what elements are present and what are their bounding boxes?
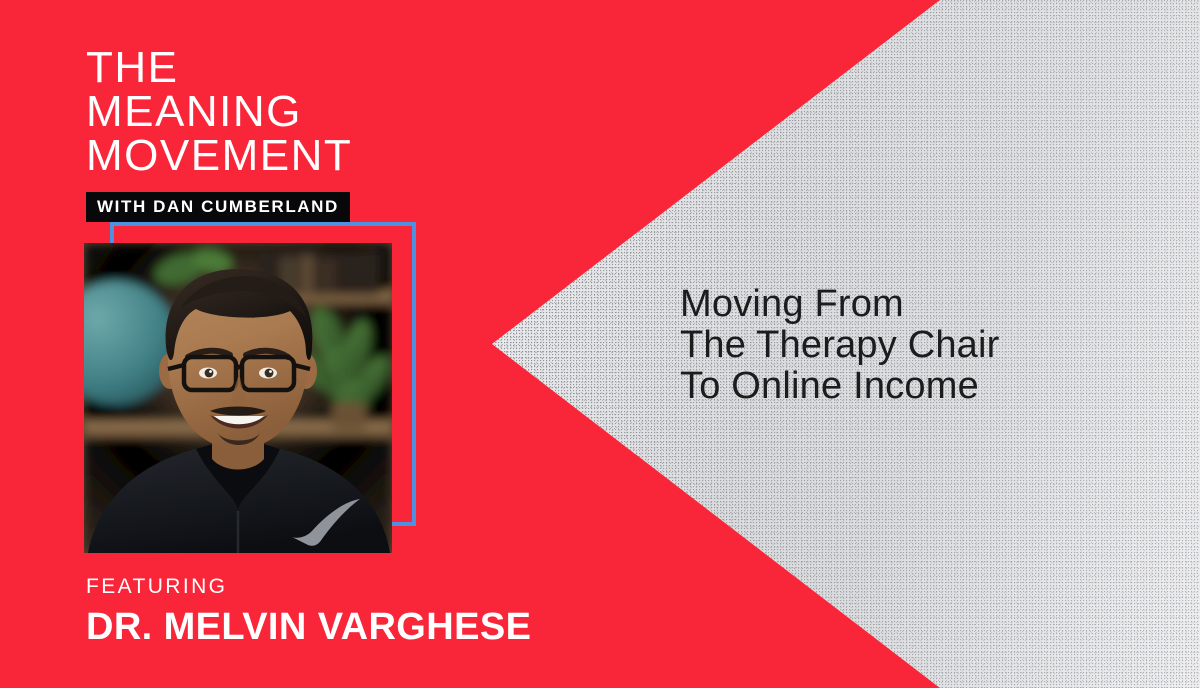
- episode-title-line-1: Moving From: [680, 284, 1150, 325]
- guest-portrait-illustration: [84, 243, 392, 553]
- show-title-line-2: MEANING: [86, 90, 506, 134]
- featuring-block: FEATURING DR. MELVIN VARGHESE: [86, 576, 706, 646]
- featuring-label: FEATURING: [86, 576, 706, 597]
- host-name-label: WITH DAN CUMBERLAND: [97, 198, 339, 215]
- episode-title: Moving From The Therapy Chair To Online …: [680, 284, 1150, 407]
- guest-name: DR. MELVIN VARGHESE: [86, 608, 706, 646]
- podcast-cover-graphic: THE MEANING MOVEMENT WITH DAN CUMBERLAND: [0, 0, 1200, 688]
- episode-title-line-3: To Online Income: [680, 366, 1150, 407]
- episode-title-line-2: The Therapy Chair: [680, 325, 1150, 366]
- show-title-line-1: THE: [86, 46, 506, 90]
- guest-photo: [84, 243, 392, 553]
- show-title-line-3: MOVEMENT: [86, 134, 506, 178]
- host-name-bar: WITH DAN CUMBERLAND: [86, 192, 350, 222]
- show-logo: THE MEANING MOVEMENT WITH DAN CUMBERLAND: [86, 46, 506, 222]
